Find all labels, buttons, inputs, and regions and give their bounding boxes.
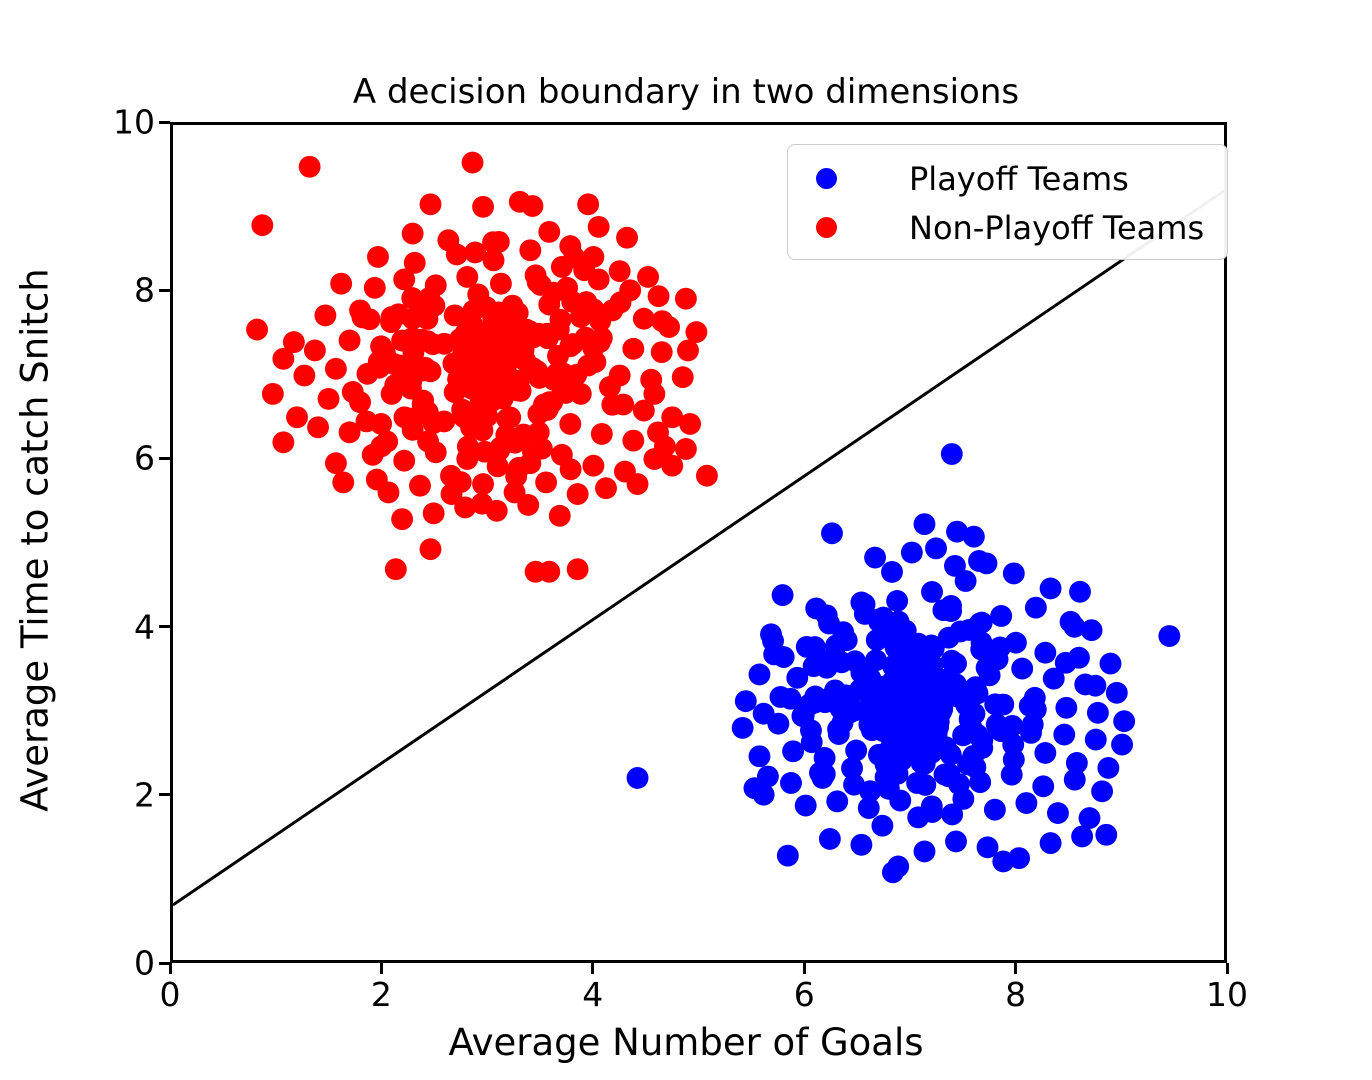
y-tick-label: 10 (113, 103, 155, 142)
x-tick-mark (803, 963, 806, 974)
data-point (547, 345, 569, 367)
data-point (984, 799, 1006, 821)
x-tick-mark (1014, 963, 1017, 974)
data-point (1055, 652, 1077, 674)
data-point (332, 471, 354, 493)
data-point (453, 406, 475, 428)
data-point (409, 475, 431, 497)
data-point (1064, 616, 1086, 638)
data-point (356, 410, 378, 432)
x-tick-mark (591, 963, 594, 974)
data-point (914, 513, 936, 535)
data-point (675, 288, 697, 310)
data-point (577, 193, 599, 215)
data-point (314, 304, 336, 326)
data-point (513, 424, 535, 446)
data-point (859, 780, 881, 802)
data-point (801, 731, 823, 753)
data-point (782, 740, 804, 762)
data-point (1034, 642, 1056, 664)
data-point (633, 308, 655, 330)
data-point (1025, 699, 1047, 721)
data-point (352, 306, 374, 328)
data-point (467, 284, 489, 306)
data-point (876, 721, 898, 743)
data-point (890, 659, 912, 681)
data-point (1113, 710, 1135, 732)
y-tick-mark (159, 457, 170, 460)
data-point (402, 308, 424, 330)
data-point (1020, 722, 1042, 744)
x-tick-mark (380, 963, 383, 974)
y-tick-mark (159, 625, 170, 628)
data-point (1047, 802, 1069, 824)
data-point (293, 365, 315, 387)
data-point (549, 505, 571, 527)
data-point (1034, 742, 1056, 764)
data-point (940, 600, 962, 622)
data-point (471, 493, 493, 515)
data-point (622, 338, 644, 360)
data-point (1071, 825, 1093, 847)
data-point (1091, 780, 1113, 802)
y-tick-label: 0 (134, 944, 155, 983)
data-point (871, 815, 893, 837)
data-point (589, 331, 611, 353)
x-tick-label: 4 (582, 975, 603, 1014)
data-point (732, 717, 754, 739)
data-point (519, 239, 541, 261)
y-axis-label-container: Average Time to catch Snitch (0, 0, 70, 1080)
data-point (661, 455, 683, 477)
data-point (272, 348, 294, 370)
data-point (452, 343, 474, 365)
data-point (795, 795, 817, 817)
data-point (1095, 824, 1117, 846)
data-point (637, 266, 659, 288)
data-point (1032, 775, 1054, 797)
data-point (819, 828, 841, 850)
data-point (325, 358, 347, 380)
data-point (583, 298, 605, 320)
legend-marker-non-playoff-icon (816, 217, 837, 238)
data-point (679, 413, 701, 435)
data-point (744, 777, 766, 799)
page-title: A decision boundary in two dimensions (0, 72, 1372, 112)
data-point (1106, 682, 1128, 704)
data-point (423, 502, 445, 524)
data-point (814, 763, 836, 785)
data-point (462, 152, 484, 174)
data-point (866, 629, 888, 651)
data-point (543, 282, 565, 304)
data-point (510, 329, 532, 351)
data-point (627, 767, 649, 789)
data-point (318, 388, 340, 410)
data-point (749, 664, 771, 686)
data-point (934, 764, 956, 786)
x-tick-label: 0 (160, 975, 181, 1014)
data-point (651, 310, 673, 332)
data-point (850, 834, 872, 856)
data-point (286, 406, 308, 428)
data-point (832, 621, 854, 643)
x-tick-label: 8 (1005, 975, 1026, 1014)
data-point (844, 650, 866, 672)
legend[interactable]: Playoff Teams Non-Playoff Teams (787, 144, 1228, 260)
scatter-series-playoff-teams (627, 443, 1181, 883)
data-point (1015, 792, 1037, 814)
data-point (366, 469, 388, 491)
data-point (1084, 675, 1106, 697)
data-point (880, 743, 902, 765)
data-point (588, 216, 610, 238)
legend-label-playoff-teams: Playoff Teams (909, 160, 1129, 198)
data-point (1003, 562, 1025, 584)
data-point (531, 438, 553, 460)
data-point (622, 430, 644, 452)
data-point (914, 774, 936, 796)
decision-boundary-line (173, 191, 1224, 905)
data-point (472, 473, 494, 495)
data-point (989, 636, 1011, 658)
data-point (401, 287, 423, 309)
data-point (841, 757, 863, 779)
data-point (1055, 697, 1077, 719)
data-point (850, 592, 872, 614)
data-point (1158, 625, 1180, 647)
data-point (490, 437, 512, 459)
y-tick-mark (159, 121, 170, 124)
data-point (777, 845, 799, 867)
data-point (828, 723, 850, 745)
data-point (887, 763, 909, 785)
data-point (330, 273, 352, 295)
data-point (914, 841, 936, 863)
data-point (472, 196, 494, 218)
data-point (367, 246, 389, 268)
scatter-series-non-playoff-teams (246, 152, 718, 583)
x-tick-mark (169, 963, 172, 974)
data-point (599, 376, 621, 398)
data-point (385, 558, 407, 580)
data-point (753, 703, 775, 725)
data-point (852, 678, 874, 700)
data-point (922, 654, 944, 676)
data-point (455, 323, 477, 345)
data-point (672, 366, 694, 388)
data-point (522, 195, 544, 217)
data-point (393, 269, 415, 291)
y-tick-label: 8 (134, 271, 155, 310)
data-point (1111, 734, 1133, 756)
data-point (780, 772, 802, 794)
y-tick-label: 4 (134, 607, 155, 646)
data-point (1040, 577, 1062, 599)
data-point (921, 581, 943, 603)
matplotlib-figure: A decision boundary in two dimensions Av… (0, 0, 1372, 1080)
data-point (559, 413, 581, 435)
data-point (391, 330, 413, 352)
data-point (517, 494, 539, 516)
y-tick-mark (159, 289, 170, 292)
data-point (1100, 653, 1122, 675)
data-point (969, 613, 991, 635)
data-point (1001, 764, 1023, 786)
data-point (448, 374, 470, 396)
data-point (610, 291, 632, 313)
data-point (749, 745, 771, 767)
data-point (402, 223, 424, 245)
data-point (887, 856, 909, 878)
data-point (339, 330, 361, 352)
data-point (947, 686, 969, 708)
data-point (941, 650, 963, 672)
data-point (487, 455, 509, 477)
data-point (964, 756, 986, 778)
data-point (612, 394, 634, 416)
data-point (1069, 581, 1091, 603)
data-point (364, 277, 386, 299)
data-point (272, 431, 294, 453)
data-point (411, 329, 433, 351)
data-point (400, 378, 422, 400)
data-point (945, 831, 967, 853)
data-point (262, 383, 284, 405)
data-point (1097, 757, 1119, 779)
data-point (342, 381, 364, 403)
x-tick-label: 6 (794, 975, 815, 1014)
data-point (643, 383, 665, 405)
data-point (481, 390, 503, 412)
data-point (567, 483, 589, 505)
data-point (647, 421, 669, 443)
data-point (482, 307, 504, 329)
legend-item-playoff-teams[interactable]: Playoff Teams (788, 154, 1227, 203)
data-point (609, 260, 631, 282)
data-point (1040, 832, 1062, 854)
data-point (246, 319, 268, 341)
data-point (251, 214, 273, 236)
data-point (584, 351, 606, 373)
data-point (391, 508, 413, 530)
data-point (773, 646, 795, 668)
data-point (548, 319, 570, 341)
data-point (450, 471, 472, 493)
x-tick-label: 10 (1206, 975, 1248, 1014)
data-point (816, 649, 838, 671)
data-point (304, 340, 326, 362)
data-point (696, 465, 718, 487)
data-point (881, 561, 903, 583)
data-point (971, 632, 993, 654)
data-point (798, 694, 820, 716)
data-point (865, 649, 887, 671)
data-point (325, 452, 347, 474)
data-point (394, 406, 416, 428)
data-point (482, 231, 504, 253)
data-point (735, 690, 757, 712)
data-point (560, 458, 582, 480)
data-point (537, 394, 559, 416)
data-point (892, 699, 914, 721)
data-point (826, 790, 848, 812)
data-point (383, 353, 405, 375)
data-point (901, 542, 923, 564)
data-point (370, 435, 392, 457)
data-point (307, 416, 329, 438)
data-point (990, 605, 1012, 627)
data-point (955, 570, 977, 592)
x-axis-label: Average Number of Goals (0, 1021, 1372, 1064)
data-point (535, 471, 557, 493)
data-point (772, 584, 794, 606)
data-point (1002, 734, 1024, 756)
data-point (992, 851, 1014, 873)
data-point (1053, 724, 1075, 746)
data-point (567, 558, 589, 580)
data-point (821, 522, 843, 544)
data-point (505, 466, 527, 488)
y-tick-label: 2 (134, 775, 155, 814)
data-point (677, 340, 699, 362)
data-point (420, 538, 442, 560)
data-point (483, 333, 505, 355)
data-point (1064, 769, 1086, 791)
data-point (538, 221, 560, 243)
data-point (497, 351, 519, 373)
y-tick-label: 6 (134, 439, 155, 478)
data-point (921, 801, 943, 823)
data-point (595, 477, 617, 499)
data-point (1011, 658, 1033, 680)
data-point (928, 711, 950, 733)
data-point (648, 285, 670, 307)
x-tick-mark (1226, 963, 1229, 974)
legend-item-non-playoff-teams[interactable]: Non-Playoff Teams (788, 203, 1227, 252)
data-point (968, 550, 990, 572)
data-point (522, 357, 544, 379)
data-point (921, 742, 943, 764)
data-point (582, 455, 604, 477)
data-point (1085, 729, 1107, 751)
legend-marker-playoff-icon (816, 168, 837, 189)
data-point (971, 729, 993, 751)
data-point (538, 561, 560, 583)
data-point (591, 423, 613, 445)
data-point (885, 637, 907, 659)
data-point (1087, 702, 1109, 724)
data-point (925, 537, 947, 559)
data-point (490, 273, 512, 295)
data-point (1025, 597, 1047, 619)
y-axis-label: Average Time to catch Snitch (14, 268, 57, 812)
data-point (299, 156, 321, 178)
data-point (627, 473, 649, 495)
data-point (380, 311, 402, 333)
data-point (457, 436, 479, 458)
data-point (941, 804, 963, 826)
legend-label-non-playoff-teams: Non-Playoff Teams (909, 209, 1204, 247)
data-point (844, 699, 866, 721)
y-tick-mark (159, 962, 170, 965)
data-point (616, 227, 638, 249)
data-point (872, 607, 894, 629)
data-point (651, 341, 673, 363)
x-tick-label: 2 (371, 975, 392, 1014)
data-point (417, 430, 439, 452)
y-tick-mark (159, 793, 170, 796)
data-point (393, 450, 415, 472)
data-point (963, 526, 985, 548)
data-point (573, 259, 595, 281)
data-point (864, 547, 886, 569)
data-point (941, 443, 963, 465)
data-point (420, 193, 442, 215)
